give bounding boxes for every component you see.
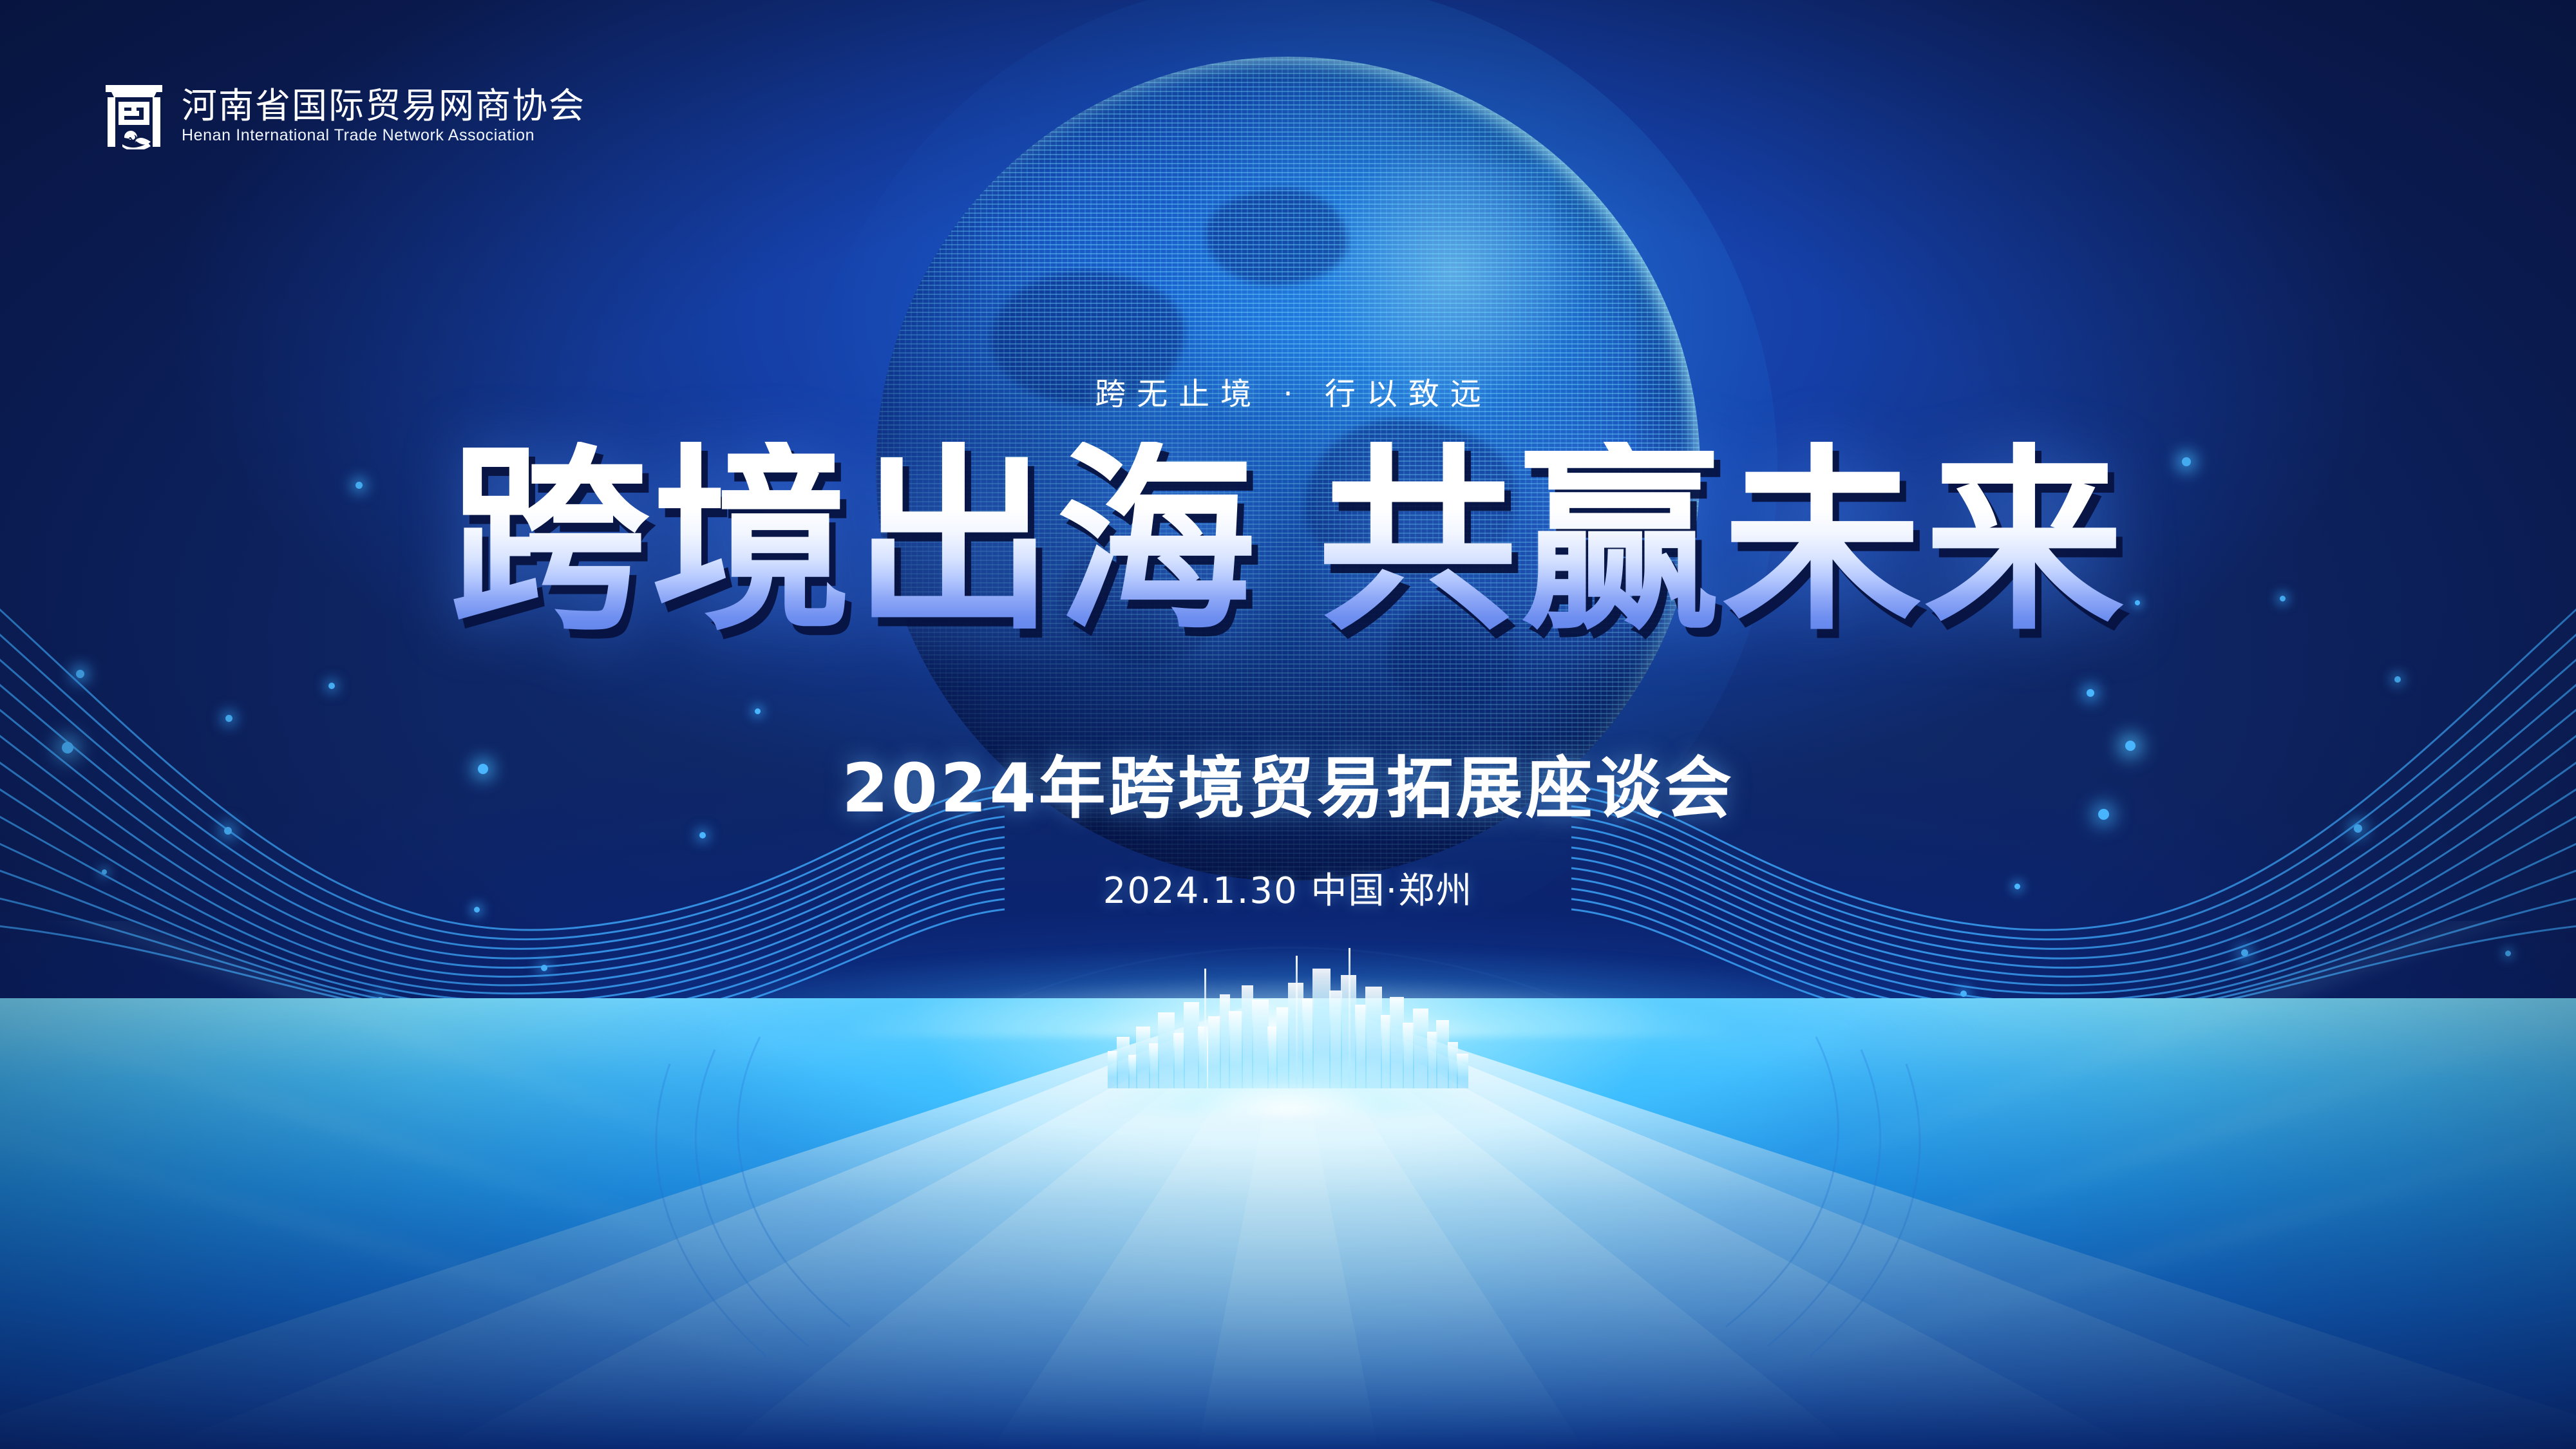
vignette-overlay <box>0 0 2576 1449</box>
event-tagline: 跨无止境 · 行以致远 <box>0 368 2576 413</box>
event-poster: 河南省国际贸易网商协会 Henan International Trade Ne… <box>0 0 2576 1449</box>
event-subtitle: 2024年跨境贸易拓展座谈会 <box>0 755 2576 822</box>
headline-right: 共赢未来 <box>1318 442 2126 641</box>
event-date-location: 2024.1.30 中国·郑州 <box>0 873 2576 909</box>
logo-name-cn: 河南省国际贸易网商协会 <box>182 88 585 124</box>
headline-left: 跨境出海 <box>450 442 1258 641</box>
association-logo[interactable]: 河南省国际贸易网商协会 Henan International Trade Ne… <box>103 82 585 149</box>
logo-text-block: 河南省国际贸易网商协会 Henan International Trade Ne… <box>182 88 585 144</box>
seal-emblem-icon <box>103 82 165 149</box>
logo-name-en: Henan International Trade Network Associ… <box>182 128 585 144</box>
event-headline: 跨境出海共赢未来 <box>0 442 2576 641</box>
